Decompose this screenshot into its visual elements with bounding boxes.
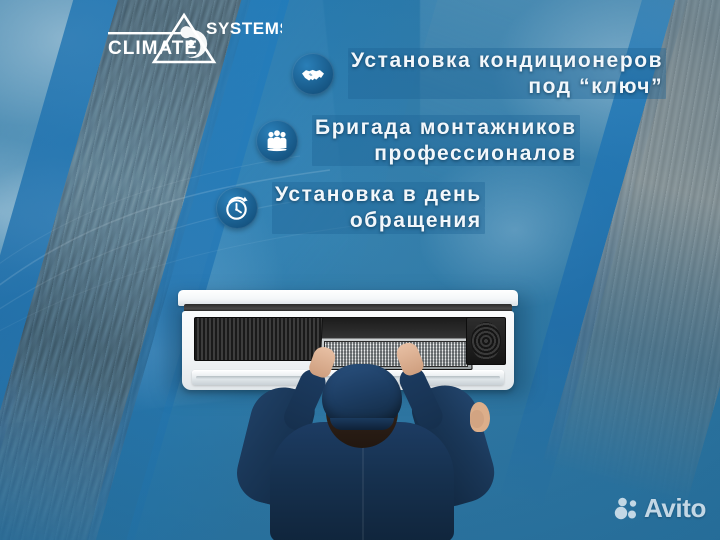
technician-cap: [322, 364, 402, 426]
technician-figure: [232, 362, 492, 540]
feature-text: Бригада монтажников профессионалов: [312, 115, 580, 166]
feature-line: Установка в день: [272, 182, 485, 208]
avito-wordmark: Avito: [644, 493, 706, 524]
clock-arrow-icon: [216, 187, 258, 229]
feature-list: Установка кондиционеров под “ключ” Брига…: [0, 48, 720, 250]
promo-banner: CLIMATE SYSTEMS Установка кондиционеров …: [0, 0, 720, 540]
feature-line: Установка кондиционеров: [348, 48, 666, 74]
feature-item-professional-team: Бригада монтажников профессионалов: [0, 115, 720, 166]
feature-line: обращения: [272, 208, 485, 234]
feature-text: Установка в день обращения: [272, 182, 485, 233]
handshake-icon: [292, 53, 334, 95]
feature-line: под “ключ”: [348, 74, 666, 100]
group-people-icon: [256, 120, 298, 162]
avito-dots-icon: [613, 496, 639, 522]
feature-item-turnkey-installation: Установка кондиционеров под “ключ”: [0, 48, 720, 99]
technician-ear: [470, 410, 484, 428]
avito-watermark: Avito: [613, 493, 706, 524]
logo-word-systems: SYSTEMS: [206, 19, 282, 38]
feature-item-same-day-installation: Установка в день обращения: [0, 182, 720, 233]
ac-blower-vent: [466, 317, 506, 365]
feature-line: Бригада монтажников: [312, 115, 580, 141]
feature-text: Установка кондиционеров под “ключ”: [348, 48, 666, 99]
feature-line: профессионалов: [312, 141, 580, 167]
